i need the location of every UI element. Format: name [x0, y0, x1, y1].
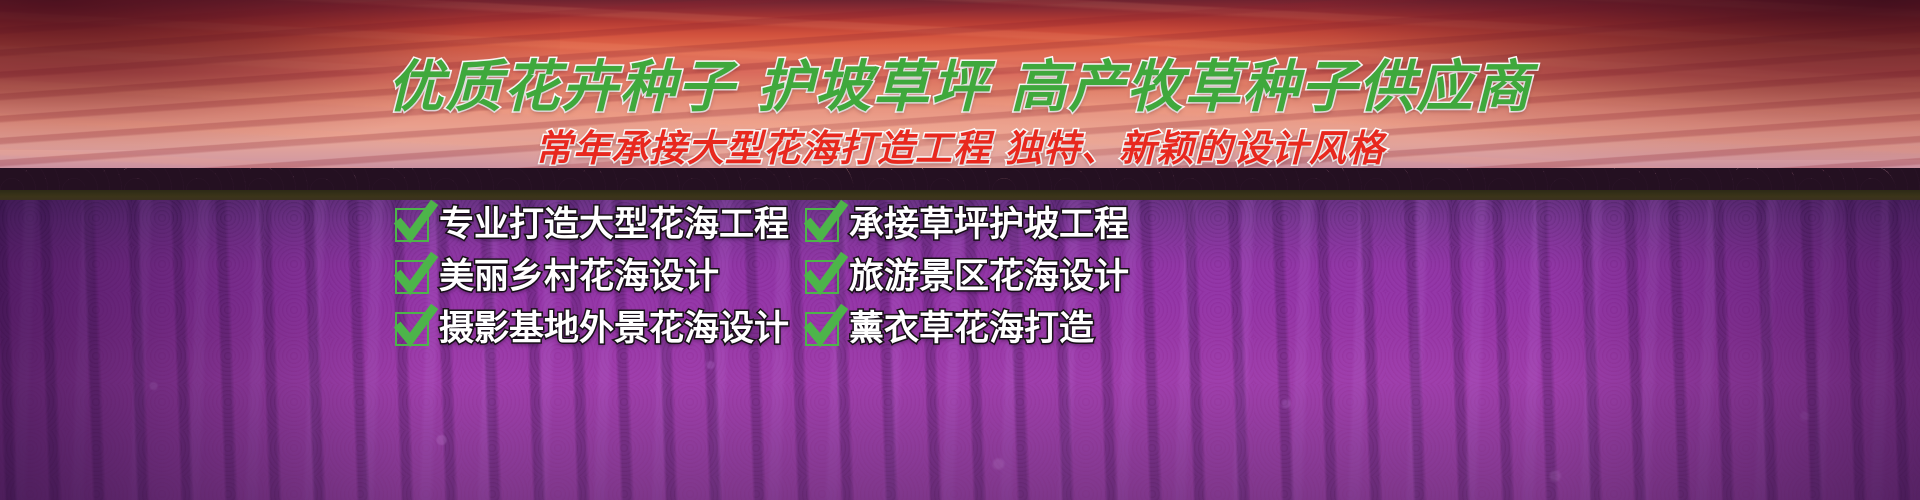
feature-label: 摄影基地外景花海设计 [439, 312, 789, 347]
feature-item: 薰衣草花海打造 [805, 312, 1155, 347]
check-icon [805, 260, 839, 294]
feature-label: 美丽乡村花海设计 [439, 260, 719, 295]
banner-subheadline: 常年承接大型花海打造工程 独特、新颖的设计风格 [0, 118, 1920, 172]
feature-item: 承接草坪护坡工程 [805, 208, 1155, 243]
feature-item: 专业打造大型花海工程 [395, 208, 805, 243]
check-icon [395, 260, 429, 294]
feature-label: 薰衣草花海打造 [849, 312, 1094, 347]
feature-label: 旅游景区花海设计 [849, 260, 1129, 295]
banner-headline: 优质花卉种子 护坡草坪 高产牧草种子供应商 [0, 42, 1920, 123]
check-icon [395, 208, 429, 242]
feature-item: 旅游景区花海设计 [805, 260, 1155, 295]
feature-item: 摄影基地外景花海设计 [395, 312, 805, 347]
promo-banner: 优质花卉种子 护坡草坪 高产牧草种子供应商 常年承接大型花海打造工程 独特、新颖… [0, 0, 1920, 500]
check-icon [805, 312, 839, 346]
check-icon [805, 208, 839, 242]
feature-item: 美丽乡村花海设计 [395, 260, 805, 295]
check-icon [395, 312, 429, 346]
banner-content: 优质花卉种子 护坡草坪 高产牧草种子供应商 常年承接大型花海打造工程 独特、新颖… [0, 0, 1920, 500]
feature-label: 专业打造大型花海工程 [439, 208, 789, 243]
feature-list: 专业打造大型花海工程 承接草坪护坡工程 美丽乡村花海设计 [395, 200, 1155, 354]
feature-label: 承接草坪护坡工程 [849, 208, 1129, 243]
